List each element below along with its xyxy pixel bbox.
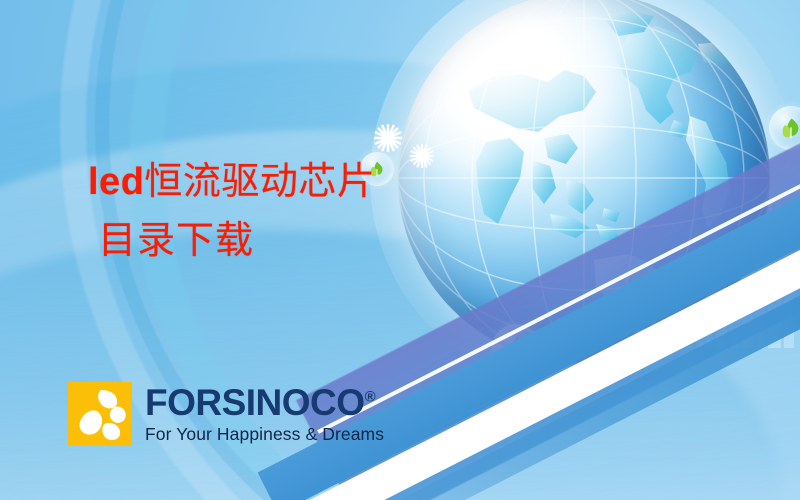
headline-cjk: 恒流驱动芯片 (144, 161, 375, 203)
logo-tagline: For Your Happiness & Dreams (145, 424, 384, 445)
globe-sphere (398, 0, 770, 364)
headline-latin: led (88, 161, 144, 203)
logo-wordmark: FORSINOCO® (145, 382, 376, 423)
leaf-icon (501, 333, 531, 363)
logo-text-block: FORSINOCO® For Your Happiness & Dreams (145, 382, 384, 445)
headline-line-2: 目录下载 (98, 222, 375, 260)
earth-globe-graphic (398, 0, 770, 364)
bubble-with-leaf-medium (492, 324, 540, 372)
headline-line-1: led恒流驱动芯片 (88, 163, 375, 201)
starburst-sparkle-small (410, 144, 434, 168)
starburst-sparkle-large (374, 124, 402, 152)
logo-wordmark-text: FORSINOCO (145, 382, 365, 423)
registered-trademark-icon: ® (365, 389, 376, 406)
promo-banner: led恒流驱动芯片 目录下载 FORSINOCO® For Your Happi… (0, 0, 800, 500)
headline-text: led恒流驱动芯片 目录下载 (88, 163, 375, 260)
leaf-icon (777, 114, 800, 141)
globe-continents-icon (398, 0, 770, 364)
brand-logo[interactable]: FORSINOCO® For Your Happiness & Dreams (68, 382, 384, 446)
four-petal-pinwheel-icon (68, 382, 132, 446)
